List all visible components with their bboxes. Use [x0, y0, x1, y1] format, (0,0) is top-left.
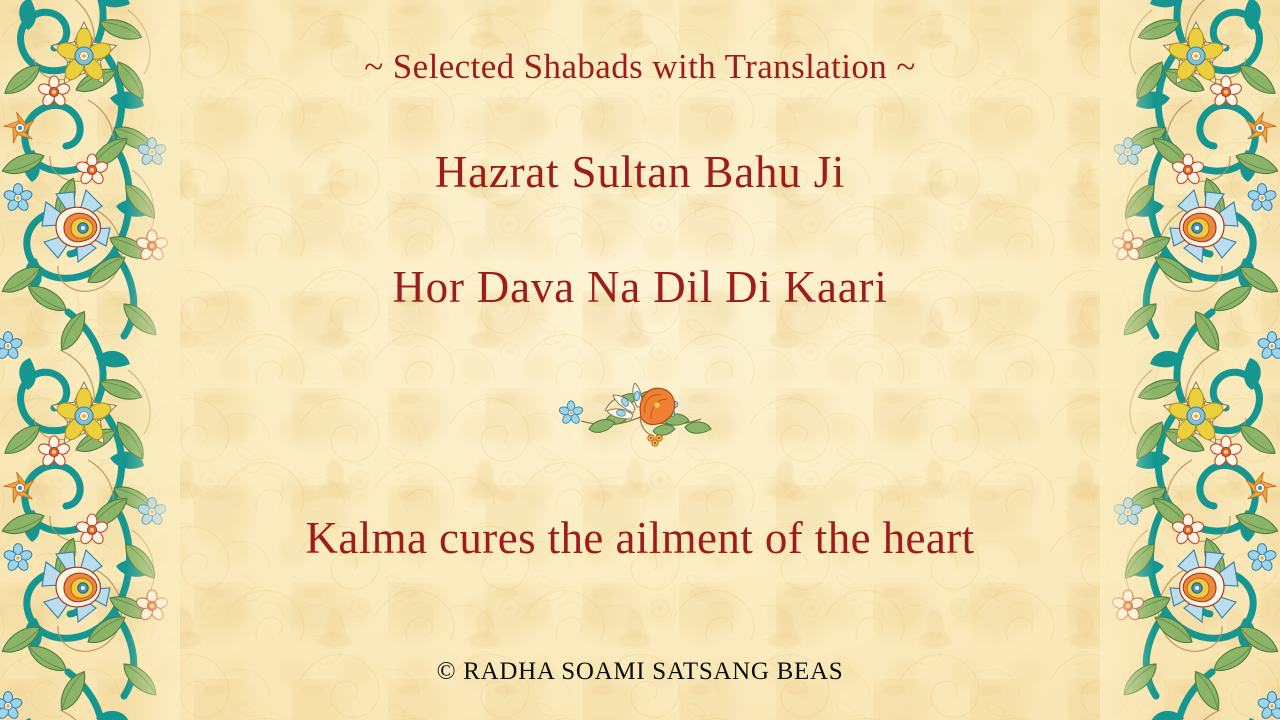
- left-floral-border: [0, 0, 180, 720]
- right-floral-border: [1100, 0, 1280, 720]
- slide-canvas: ~ Selected Shabads with Translation ~ Ha…: [0, 0, 1280, 720]
- center-floral-divider-icon: [545, 383, 735, 449]
- background-scroll-pattern: [0, 0, 1280, 720]
- left-floral-border-icon: [0, 0, 180, 720]
- slide-title-line-2: Hor Dava Na Dil Di Kaari: [0, 261, 1280, 313]
- slide-header: ~ Selected Shabads with Translation ~: [0, 47, 1280, 87]
- right-floral-border-icon: [1100, 0, 1280, 720]
- slide-title-line-1: Hazrat Sultan Bahu Ji: [0, 146, 1280, 198]
- slide-translation-text: Kalma cures the ailment of the heart: [0, 512, 1280, 564]
- center-floral-divider: [545, 383, 735, 449]
- copyright-footer: © RADHA SOAMI SATSANG BEAS: [0, 658, 1280, 686]
